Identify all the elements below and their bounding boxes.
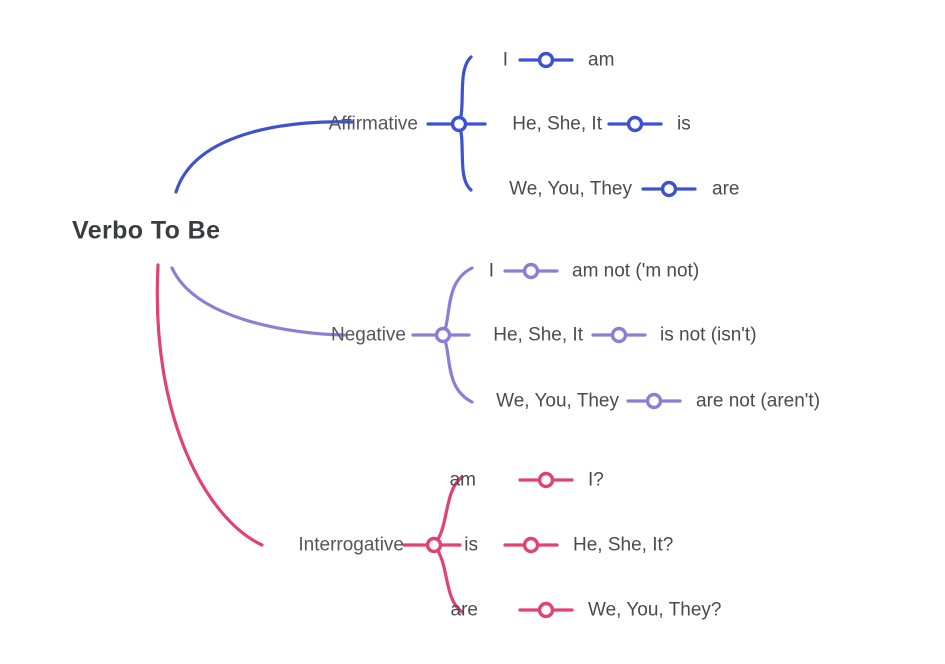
- hub-node-negative[interactable]: [437, 329, 450, 342]
- brace-negative: [443, 268, 472, 402]
- row-subject-negative-0: I: [489, 262, 494, 281]
- row-node-affirmative-2[interactable]: [663, 183, 676, 196]
- row-verb-negative-1: is not (isn't): [660, 326, 757, 345]
- hub-node-affirmative[interactable]: [453, 118, 466, 131]
- row-node-interrogative-1[interactable]: [525, 539, 538, 552]
- row-node-negative-0[interactable]: [525, 265, 538, 278]
- category-label-affirmative: Affirmative: [329, 115, 418, 134]
- brace-interrogative: [434, 477, 462, 612]
- row-verb-negative-0: am not ('m not): [572, 262, 699, 281]
- trunk-affirmative: [176, 122, 352, 192]
- row-subject-affirmative-1: He, She, It: [512, 115, 602, 134]
- brace-affirmative: [459, 57, 471, 190]
- row-verb-interrogative-1: He, She, It?: [573, 536, 673, 555]
- row-subject-affirmative-2: We, You, They: [509, 180, 632, 199]
- row-node-affirmative-1[interactable]: [629, 118, 642, 131]
- row-verb-affirmative-0: am: [588, 51, 614, 70]
- row-subject-negative-1: He, She, It: [493, 326, 583, 345]
- row-subject-interrogative-0: am: [450, 471, 476, 490]
- hub-node-interrogative[interactable]: [428, 539, 441, 552]
- row-verb-negative-2: are not (aren't): [696, 392, 820, 411]
- row-node-interrogative-2[interactable]: [540, 604, 553, 617]
- row-subject-interrogative-2: are: [451, 601, 478, 620]
- trunk-interrogative: [157, 265, 262, 545]
- row-node-negative-2[interactable]: [648, 395, 661, 408]
- mindmap-canvas: Verbo To Be AffirmativeIamHe, She, ItisW…: [0, 0, 945, 664]
- row-verb-affirmative-1: is: [677, 115, 691, 134]
- root-title: Verbo To Be: [72, 219, 220, 244]
- trunk-negative: [172, 268, 344, 335]
- category-label-interrogative: Interrogative: [298, 536, 404, 555]
- category-label-negative: Negative: [331, 326, 406, 345]
- row-node-negative-1[interactable]: [613, 329, 626, 342]
- row-verb-interrogative-0: I?: [588, 471, 604, 490]
- row-subject-affirmative-0: I: [503, 51, 508, 70]
- row-verb-affirmative-2: are: [712, 180, 739, 199]
- row-subject-interrogative-1: is: [464, 536, 478, 555]
- row-node-interrogative-0[interactable]: [540, 474, 553, 487]
- connector-layer: [0, 0, 945, 664]
- row-verb-interrogative-2: We, You, They?: [588, 601, 721, 620]
- row-node-affirmative-0[interactable]: [540, 54, 553, 67]
- row-subject-negative-2: We, You, They: [496, 392, 619, 411]
